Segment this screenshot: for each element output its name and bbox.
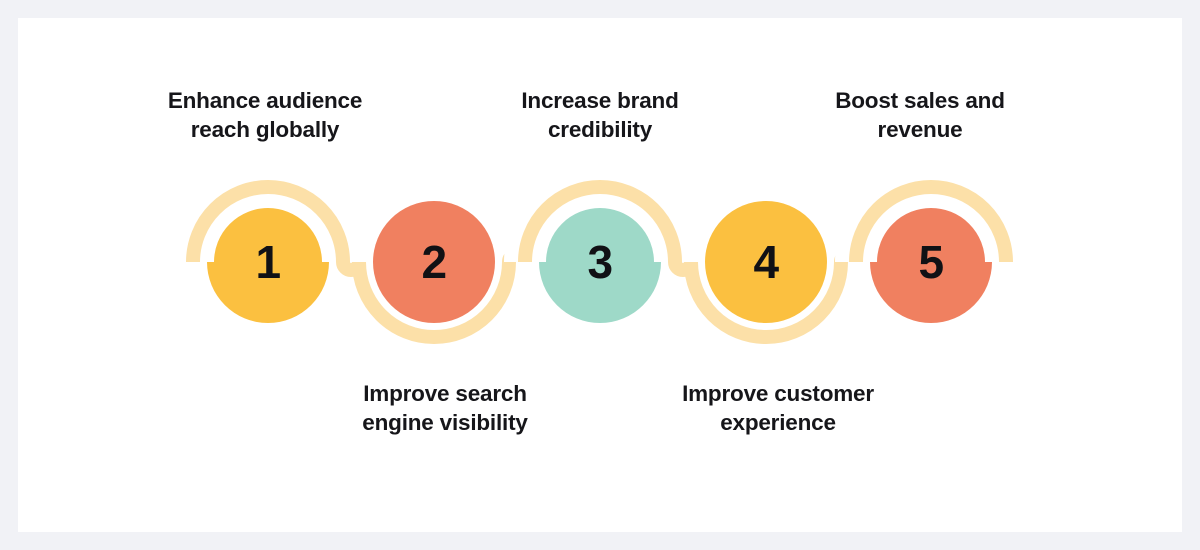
step-label-2: Improve searchengine visibility xyxy=(305,379,585,437)
step-circle-5[interactable]: 5 xyxy=(870,201,992,323)
step-number-4: 4 xyxy=(753,239,778,285)
step-label-line-2: credibility xyxy=(460,115,740,144)
step-number-5: 5 xyxy=(918,239,943,285)
step-number-2: 2 xyxy=(421,239,446,285)
step-number-1: 1 xyxy=(255,239,280,285)
step-number-3: 3 xyxy=(587,239,612,285)
step-label-line-1: Improve customer xyxy=(638,379,918,408)
step-label-line-1: Boost sales and xyxy=(780,86,1060,115)
step-circle-1[interactable]: 1 xyxy=(207,201,329,323)
step-circle-2[interactable]: 2 xyxy=(373,201,495,323)
infographic-stage: 12345 Enhance audiencereach globallyImpr… xyxy=(0,0,1200,550)
step-label-5: Boost sales andrevenue xyxy=(780,86,1060,144)
step-label-line-1: Increase brand xyxy=(460,86,740,115)
step-circle-3[interactable]: 3 xyxy=(539,201,661,323)
step-label-1: Enhance audiencereach globally xyxy=(125,86,405,144)
step-label-line-2: reach globally xyxy=(125,115,405,144)
step-label-line-2: engine visibility xyxy=(305,408,585,437)
step-label-line-1: Improve search xyxy=(305,379,585,408)
step-label-line-1: Enhance audience xyxy=(125,86,405,115)
step-label-line-2: revenue xyxy=(780,115,1060,144)
step-label-4: Improve customerexperience xyxy=(638,379,918,437)
step-label-3: Increase brandcredibility xyxy=(460,86,740,144)
step-circle-4[interactable]: 4 xyxy=(705,201,827,323)
step-label-line-2: experience xyxy=(638,408,918,437)
